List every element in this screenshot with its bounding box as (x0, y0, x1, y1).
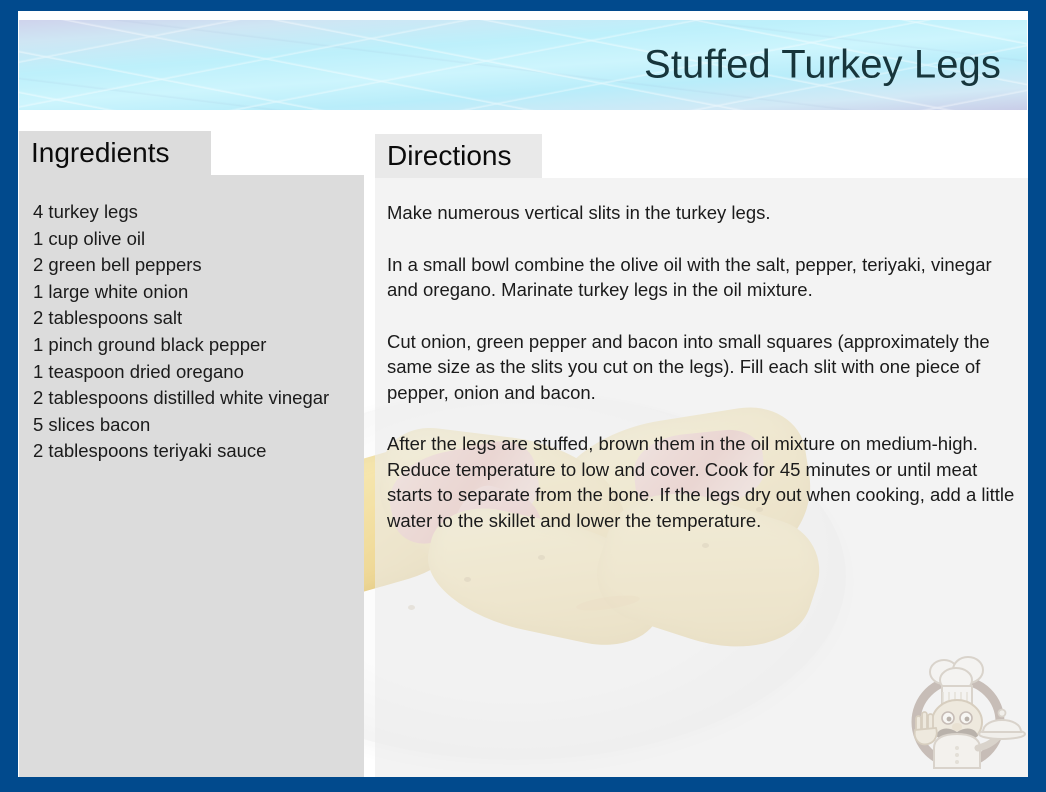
recipe-card: Stuffed Turkey Legs Ingredients (0, 0, 1046, 792)
list-item: 1 cup olive oil (33, 226, 350, 253)
list-item: 1 teaspoon dried oregano (33, 359, 350, 386)
direction-step: In a small bowl combine the olive oil wi… (387, 252, 1016, 303)
directions-body: Make numerous vertical slits in the turk… (375, 178, 1028, 777)
list-item: 2 tablespoons teriyaki sauce (33, 438, 350, 465)
list-item: 5 slices bacon (33, 412, 350, 439)
recipe-title: Stuffed Turkey Legs (644, 43, 1001, 88)
direction-step: Cut onion, green pepper and bacon into s… (387, 329, 1016, 406)
list-item: 2 green bell peppers (33, 252, 350, 279)
list-item: 4 turkey legs (33, 199, 350, 226)
ingredients-body: 4 turkey legs 1 cup olive oil 2 green be… (19, 175, 364, 777)
list-item: 1 pinch ground black pepper (33, 332, 350, 359)
direction-step: After the legs are stuffed, brown them i… (387, 431, 1016, 533)
ingredients-panel: Ingredients 4 turkey legs 1 cup olive oi… (19, 131, 364, 777)
list-item: 2 tablespoons salt (33, 305, 350, 332)
ingredients-list: 4 turkey legs 1 cup olive oil 2 green be… (33, 199, 350, 465)
list-item: 2 tablespoons distilled white vinegar (33, 385, 350, 412)
ingredients-heading: Ingredients (19, 131, 211, 175)
list-item: 1 large white onion (33, 279, 350, 306)
direction-step: Make numerous vertical slits in the turk… (387, 200, 1016, 226)
directions-heading: Directions (375, 134, 542, 178)
header-banner: Stuffed Turkey Legs (19, 20, 1027, 110)
directions-panel: Directions Make numerous vertical slits … (375, 134, 1028, 777)
recipe-card-inner: Stuffed Turkey Legs Ingredients (18, 11, 1028, 777)
